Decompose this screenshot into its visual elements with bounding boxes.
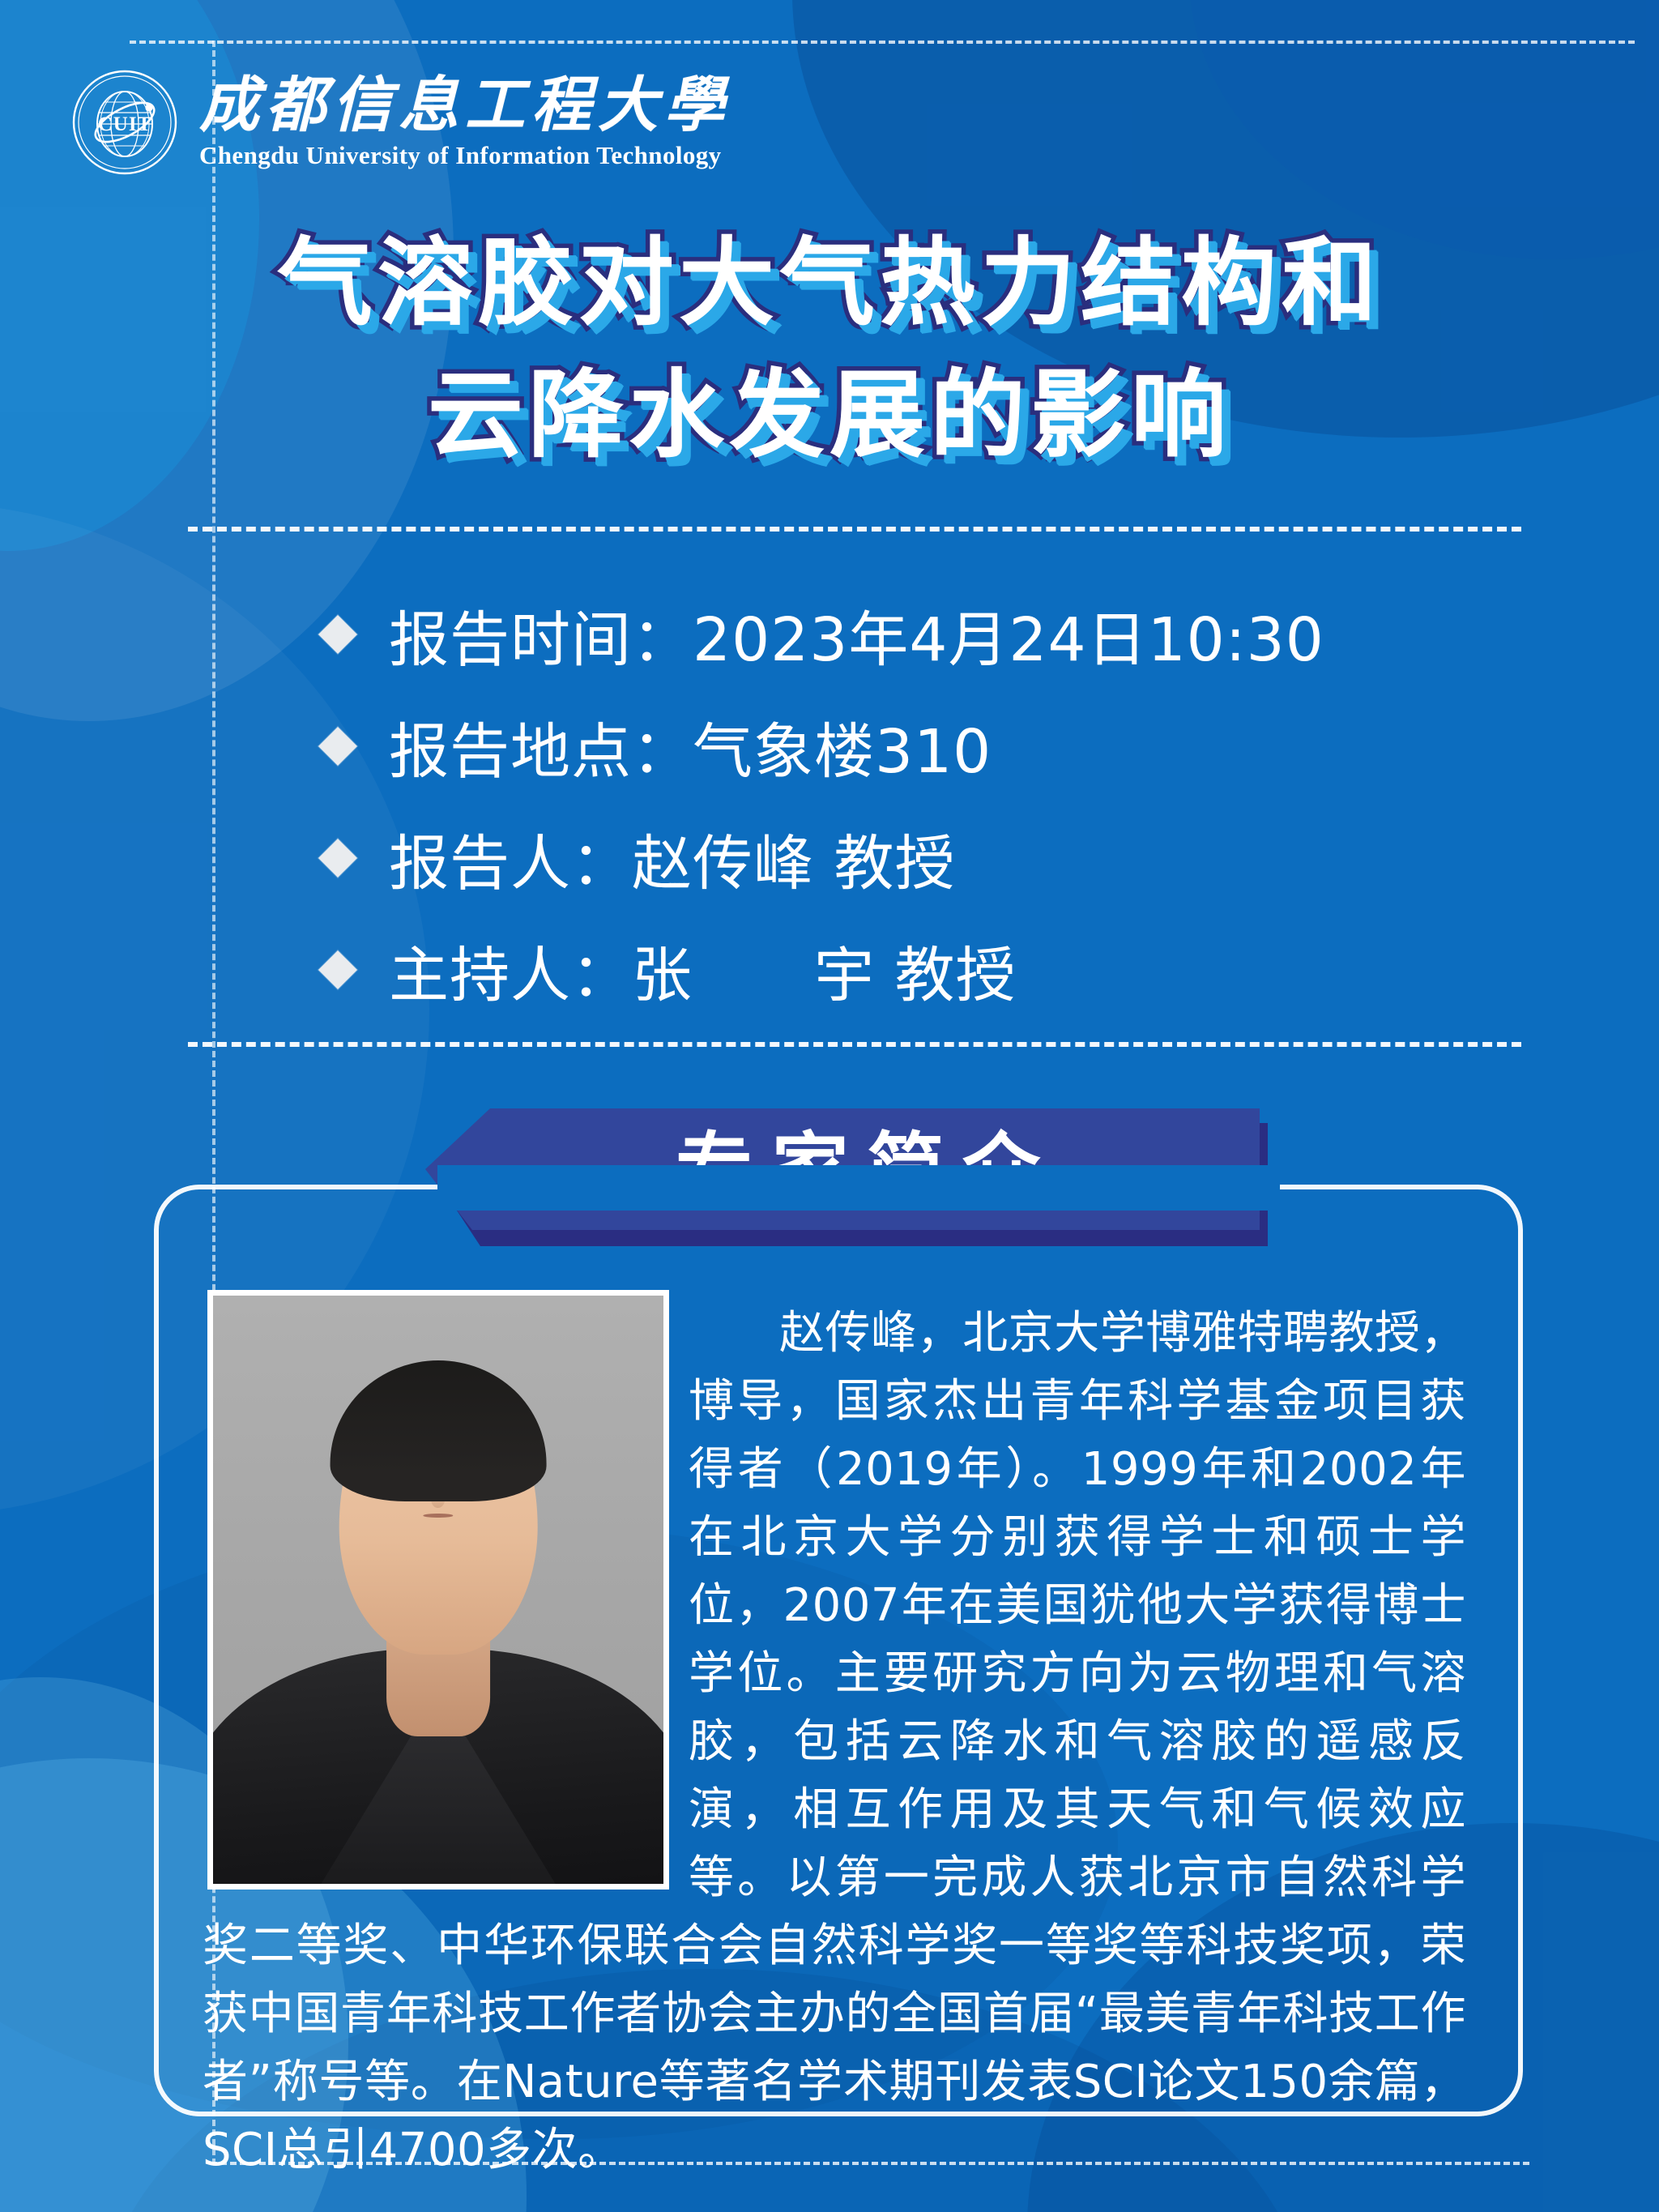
diamond-bullet-icon [318, 727, 357, 766]
seminar-info-list: 报告时间：2023年4月24日10:30 报告地点：气象楼310 报告人：赵传峰… [0, 579, 1659, 1026]
speaker-portrait [207, 1290, 669, 1890]
cuit-seal-icon: CUIT [71, 69, 178, 176]
info-text-location: 报告地点：气象楼310 [389, 703, 992, 790]
svg-text:CUIT: CUIT [98, 113, 152, 135]
divider-bottom [188, 1042, 1521, 1047]
frame-dashed-top [130, 41, 1635, 44]
diamond-bullet-icon [318, 950, 357, 989]
info-text-speaker: 报告人：赵传峰 教授 [389, 815, 956, 902]
seminar-poster: CUIT 成都信息工程大學 Chengdu University of Info… [0, 0, 1659, 2212]
diamond-bullet-icon [318, 839, 357, 878]
info-row-host: 主持人：张 宇 教授 [0, 914, 1659, 1026]
bio-box-notch [437, 1165, 1280, 1211]
portrait-photo [213, 1296, 663, 1884]
poster-header: CUIT 成都信息工程大學 Chengdu University of Info… [71, 69, 731, 176]
title-line-1: 气溶胶对大气热力结构和 [0, 217, 1659, 349]
info-row-location: 报告地点：气象楼310 [0, 690, 1659, 802]
info-row-speaker: 报告人：赵传峰 教授 [0, 802, 1659, 914]
info-text-host: 主持人：张 宇 教授 [389, 927, 1017, 1014]
info-text-time: 报告时间：2023年4月24日10:30 [389, 591, 1324, 678]
portrait-hair [331, 1360, 547, 1501]
diamond-bullet-icon [318, 615, 357, 654]
portrait-mouth [424, 1514, 454, 1518]
university-name-en: Chengdu University of Information Techno… [199, 141, 731, 170]
university-name-cn: 成都信息工程大學 [199, 75, 731, 138]
divider-top [188, 527, 1521, 532]
info-row-time: 报告时间：2023年4月24日10:30 [0, 579, 1659, 690]
poster-title: 气溶胶对大气热力结构和 云降水发展的影响 [0, 217, 1659, 481]
title-line-2: 云降水发展的影响 [0, 349, 1659, 481]
